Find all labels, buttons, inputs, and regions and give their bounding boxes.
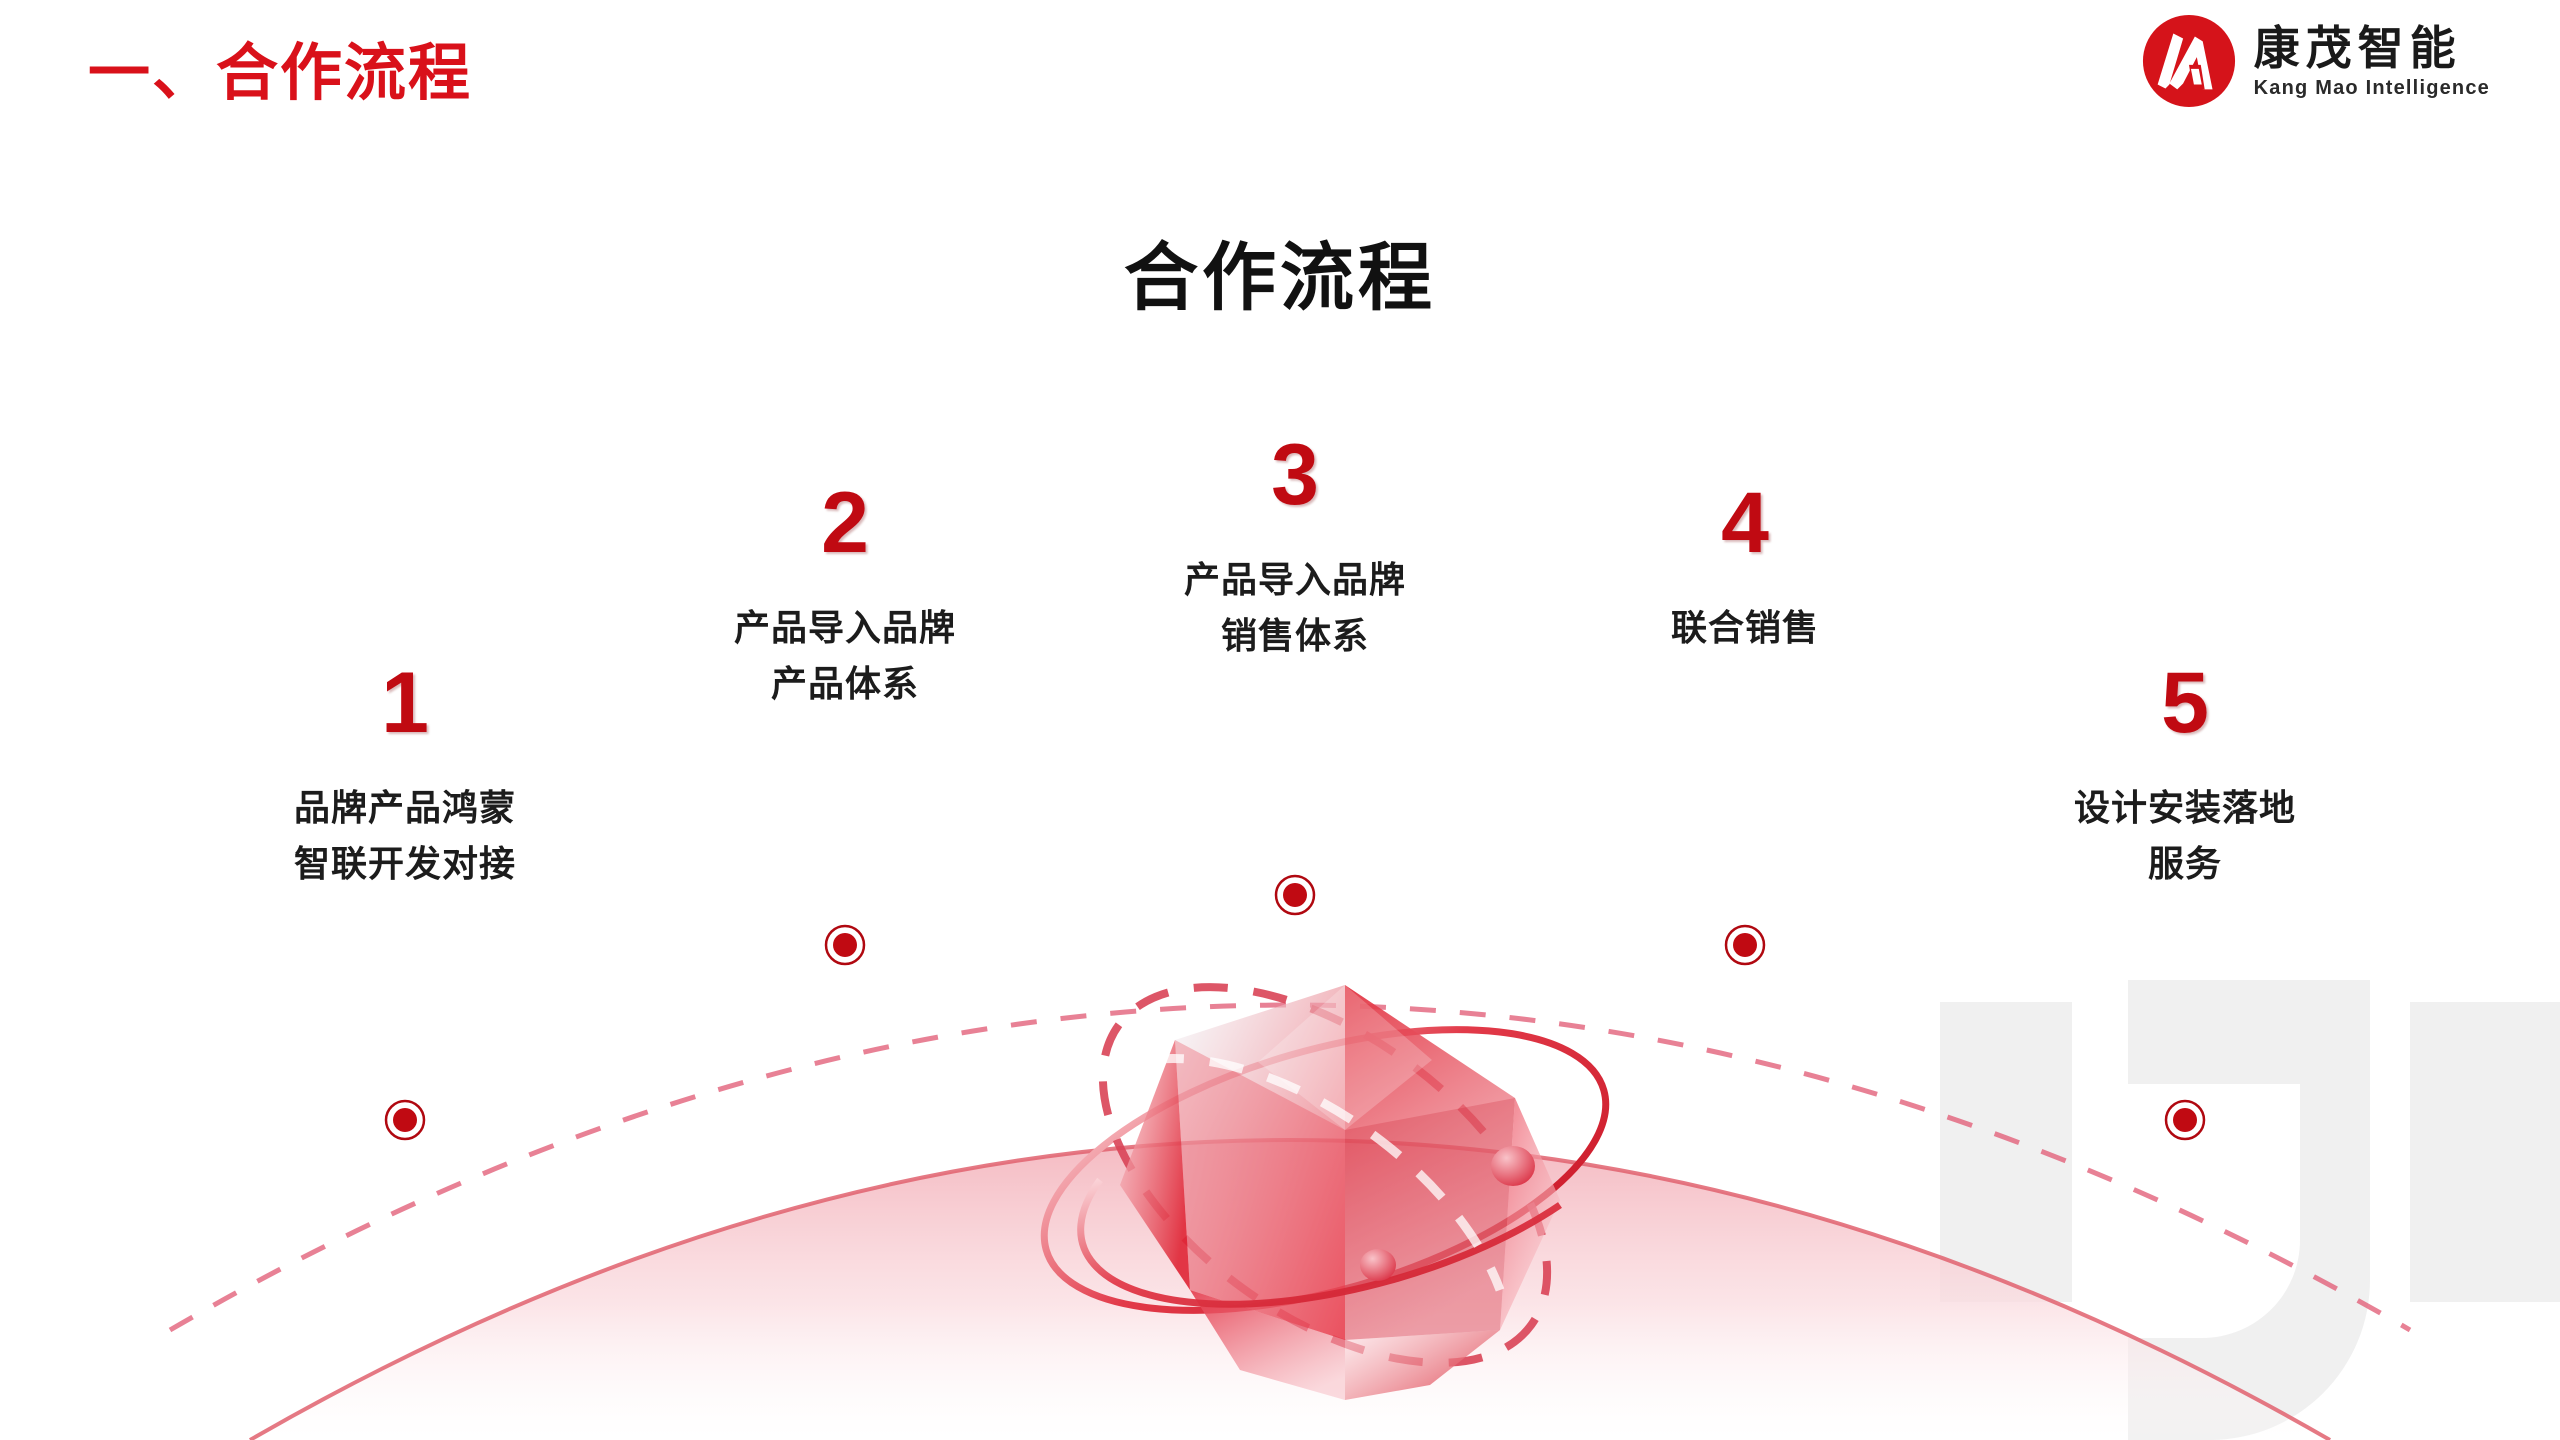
step-connectors — [405, 730, 2185, 1120]
step-4-number: 4 — [1485, 480, 2005, 566]
orbit-ring-dashed — [1036, 912, 1613, 1438]
orbit-node — [1491, 1146, 1535, 1186]
step-5[interactable]: 5 设计安装落地 服务 — [1925, 660, 2445, 892]
logo-name-cn: 康茂智能 — [2254, 25, 2490, 71]
slide-header: 一、合作流程 康茂智能 Kang Mao Intelligence — [0, 0, 2560, 140]
logo-name-en: Kang Mao Intelligence — [2254, 78, 2490, 98]
brand-logo: 康茂智能 Kang Mao Intelligence — [2140, 12, 2490, 110]
logo-text-block: 康茂智能 Kang Mao Intelligence — [2254, 25, 2490, 98]
step-marker-5[interactable] — [2166, 1101, 2204, 1139]
step-2-number: 2 — [585, 480, 1105, 566]
orbit-ring-solid — [1013, 975, 1637, 1366]
step-2-label: 产品导入品牌 产品体系 — [585, 600, 1105, 712]
page-title: 一、合作流程 — [88, 22, 472, 112]
step-3-label: 产品导入品牌 销售体系 — [1035, 552, 1555, 664]
corner-decoration — [1940, 980, 2560, 1440]
step-1-label-line-1: 品牌产品鸿蒙 — [145, 780, 665, 836]
step-3-number: 3 — [1035, 432, 1555, 518]
red-crystal-hexagon — [1013, 912, 1637, 1438]
step-1-label-line-2: 智联开发对接 — [145, 836, 665, 892]
step-5-number: 5 — [1925, 660, 2445, 746]
step-4-label: 联合销售 — [1485, 600, 2005, 656]
step-3[interactable]: 3 产品导入品牌 销售体系 — [1035, 432, 1555, 664]
step-5-label-line-2: 服务 — [1925, 836, 2445, 892]
orbit-node — [1360, 1249, 1396, 1281]
kangmao-logo-mark-icon — [2140, 12, 2238, 110]
dashed-arc-path — [170, 1005, 2410, 1330]
step-2[interactable]: 2 产品导入品牌 产品体系 — [585, 480, 1105, 712]
step-markers — [386, 876, 2204, 1139]
step-marker-1[interactable] — [386, 1101, 424, 1139]
step-5-label-line-1: 设计安装落地 — [1925, 780, 2445, 836]
step-3-label-line-2: 销售体系 — [1035, 608, 1555, 664]
pink-dome — [250, 1140, 2330, 1440]
step-marker-2[interactable] — [826, 926, 864, 964]
step-5-label: 设计安装落地 服务 — [1925, 780, 2445, 892]
step-2-label-line-2: 产品体系 — [585, 656, 1105, 712]
main-title: 合作流程 — [0, 218, 2560, 325]
step-marker-3[interactable] — [1276, 876, 1314, 914]
step-4-label-line-1: 联合销售 — [1485, 600, 2005, 656]
step-marker-4[interactable] — [1726, 926, 1764, 964]
step-4[interactable]: 4 联合销售 — [1485, 480, 2005, 656]
step-1-label: 品牌产品鸿蒙 智联开发对接 — [145, 780, 665, 892]
crystal-facets — [1120, 985, 1560, 1400]
step-2-label-line-1: 产品导入品牌 — [585, 600, 1105, 656]
step-3-label-line-1: 产品导入品牌 — [1035, 552, 1555, 608]
